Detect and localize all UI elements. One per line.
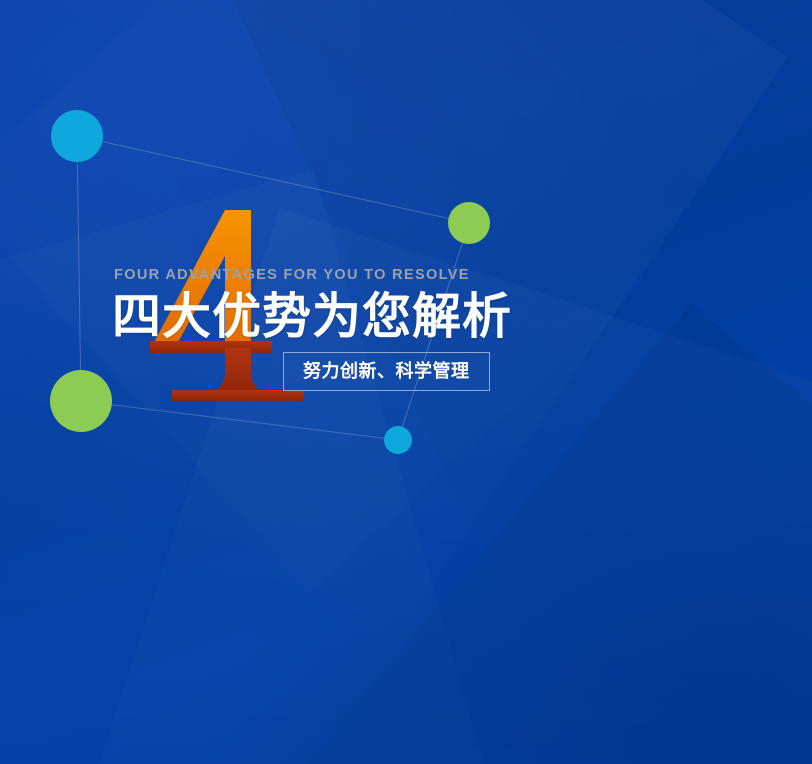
- eyebrow-text: FOUR ADVANTAGES FOR YOU TO RESOLVE: [114, 268, 752, 283]
- tagline-row: 努力创新、科学管理: [283, 352, 490, 391]
- headline-block: FOUR ADVANTAGES FOR YOU TO RESOLVE 四大优势为…: [112, 268, 752, 342]
- page-title: 四大优势为您解析: [112, 292, 752, 343]
- node-green-bottom-left: [50, 370, 112, 432]
- node-cyan-top-left: [51, 110, 103, 162]
- tagline-badge: 努力创新、科学管理: [283, 352, 490, 391]
- node-cyan-bottom-right: [384, 426, 412, 454]
- node-green-top-right: [448, 202, 490, 244]
- edge-green-bottomleft-to-cyan-bottomright: [81, 401, 398, 440]
- edge-cyan-topleft-to-green-topright: [77, 136, 469, 223]
- edge-cyan-topleft-to-green-bottomleft: [77, 136, 81, 401]
- promo-banner: FOUR ADVANTAGES FOR YOU TO RESOLVE 四大优势为…: [0, 0, 812, 764]
